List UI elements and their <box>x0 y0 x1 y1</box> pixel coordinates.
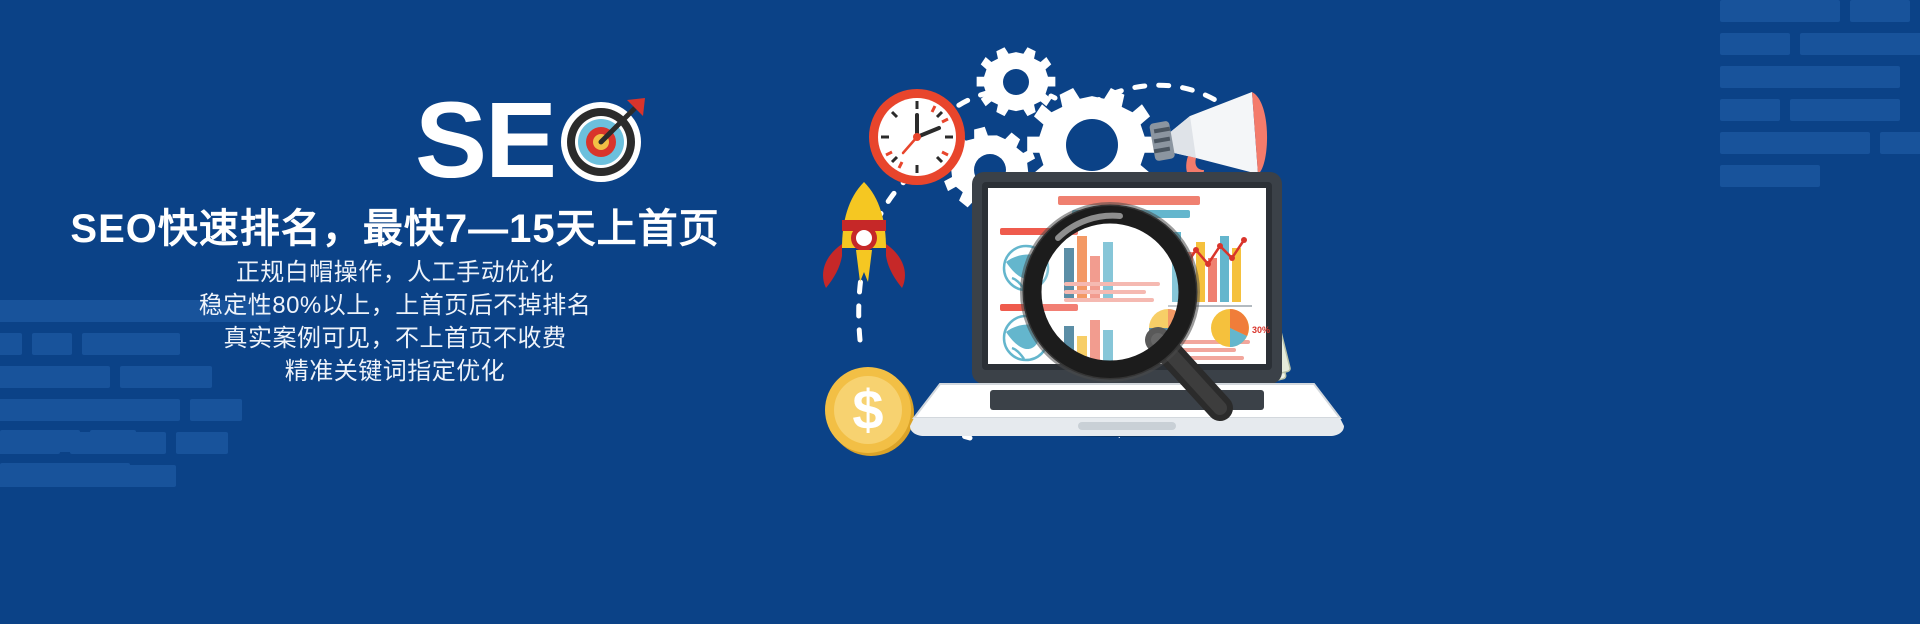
code-bar <box>1720 33 1790 55</box>
code-bar <box>1720 165 1820 187</box>
code-row <box>1720 33 1920 55</box>
body-line: 真实案例可见，不上首页不收费 <box>0 322 790 355</box>
seo-illustration: $ 17 <box>820 20 1520 610</box>
percent-label: 30% <box>1252 325 1270 335</box>
code-bar <box>1800 33 1920 55</box>
page-title: SEO快速排名，最快7—15天上首页 <box>0 196 790 254</box>
code-bar <box>1790 99 1900 121</box>
code-row <box>1720 132 1920 154</box>
code-row <box>1720 165 1920 187</box>
illustration-svg: $ 17 <box>820 20 1520 610</box>
clock-icon <box>869 89 965 185</box>
text-column: SE SEO快速排名，最快7—15天上首页 正规白帽操作，人工手动优化 稳定性8… <box>0 0 790 624</box>
seo-wordmark: SE <box>415 86 555 194</box>
seo-logo: SE <box>415 86 649 194</box>
code-bar <box>1720 132 1870 154</box>
body-line: 稳定性80%以上，上首页后不掉排名 <box>0 289 790 322</box>
code-row <box>1720 66 1920 88</box>
code-bar <box>1720 99 1780 121</box>
code-decoration-right <box>1720 0 1920 198</box>
body-line: 精准关键词指定优化 <box>0 355 790 388</box>
code-bar <box>1720 0 1840 22</box>
body-line: 正规白帽操作，人工手动优化 <box>0 256 790 289</box>
code-row <box>1720 99 1920 121</box>
body-text-list: 正规白帽操作，人工手动优化 稳定性80%以上，上首页后不掉排名 真实案例可见，不… <box>0 256 790 388</box>
bullseye-target-icon <box>557 94 649 186</box>
dollar-coin-icon: $ <box>825 367 914 456</box>
pie-chart <box>1211 309 1249 347</box>
svg-text:$: $ <box>852 378 883 441</box>
code-bar <box>1720 66 1900 88</box>
code-row <box>1720 0 1920 22</box>
megaphone-icon <box>1149 92 1267 184</box>
code-bar <box>1880 132 1920 154</box>
seo-promo-banner: SE SEO快速排名，最快7—15天上首页 正规白帽操作，人工手动优化 稳定性8… <box>0 0 1920 624</box>
code-bar <box>1850 0 1910 22</box>
